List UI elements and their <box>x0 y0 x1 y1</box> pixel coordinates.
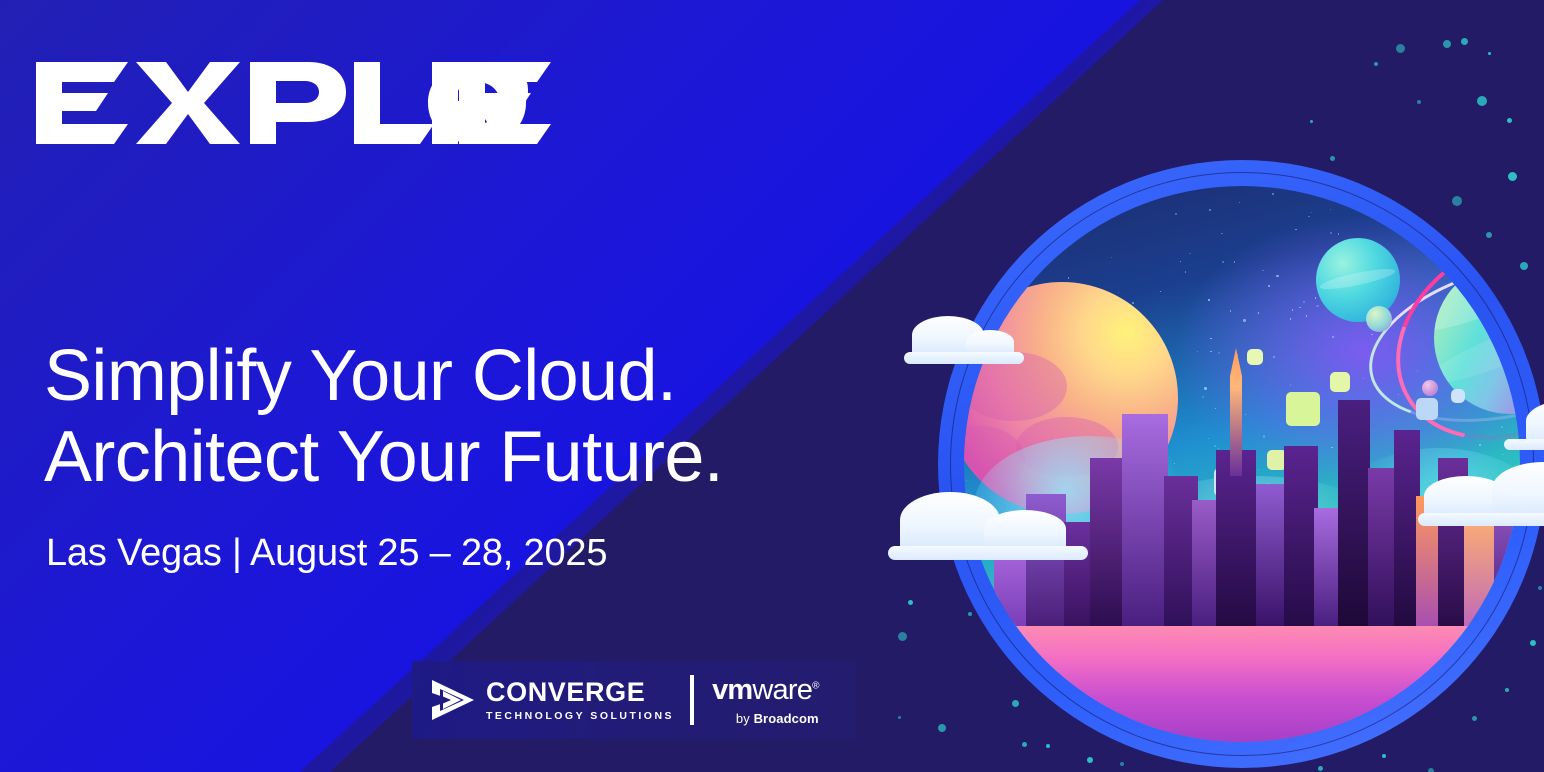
star <box>1111 257 1112 258</box>
star <box>1243 319 1245 321</box>
building <box>1284 446 1318 626</box>
star <box>1315 297 1316 298</box>
teal-dot <box>1120 762 1124 766</box>
registered-mark-icon: ® <box>812 680 819 691</box>
converge-wordmark: CONVERGE TECHNOLOGY SOLUTIONS <box>486 679 674 722</box>
double-chevron-icon <box>430 678 476 722</box>
star <box>1272 193 1273 194</box>
building <box>1464 514 1498 626</box>
teal-dot <box>1382 754 1386 758</box>
star <box>978 232 979 233</box>
teal-dot <box>1461 38 1468 45</box>
star <box>1208 299 1209 300</box>
star <box>1338 233 1339 234</box>
star <box>1295 229 1296 230</box>
star <box>1330 209 1331 210</box>
white-cloud-top-left <box>904 318 1024 364</box>
star <box>1356 190 1357 191</box>
teal-dot <box>1318 766 1323 771</box>
star <box>1299 307 1300 308</box>
teal-dot <box>1452 196 1462 206</box>
star <box>1262 270 1263 271</box>
vmware-ware: ware <box>752 674 812 706</box>
vmware-wordmark: vmware® <box>712 676 819 705</box>
teal-dot <box>938 724 946 732</box>
teal-dot <box>1508 172 1517 181</box>
star <box>1148 194 1149 195</box>
building <box>1338 400 1370 626</box>
star <box>1175 213 1176 214</box>
white-cloud-right <box>1418 460 1544 526</box>
vmware-byline: by Broadcom <box>712 712 819 725</box>
star <box>1180 261 1181 262</box>
teal-dot <box>1443 40 1451 48</box>
star <box>1268 285 1269 286</box>
vmware-logo: vmware® by Broadcom <box>712 676 819 725</box>
star <box>1308 216 1309 217</box>
event-dateline: Las Vegas | August 25 – 28, 2025 <box>46 532 607 575</box>
star <box>1038 190 1039 191</box>
headline-line-1: Simplify Your Cloud. <box>44 336 723 417</box>
star <box>1303 301 1304 302</box>
teal-dot <box>898 632 907 641</box>
star <box>1258 312 1259 313</box>
teal-dot <box>1310 120 1313 123</box>
star <box>1027 284 1028 285</box>
converge-tagline: TECHNOLOGY SOLUTIONS <box>486 711 674 722</box>
byline-by: by <box>736 711 754 726</box>
white-cloud-far-right <box>1504 400 1544 450</box>
teal-dot <box>1396 44 1405 53</box>
converge-logo: CONVERGE TECHNOLOGY SOLUTIONS <box>412 678 674 722</box>
star <box>1132 302 1134 304</box>
vmware-vm: vm <box>712 674 752 706</box>
star <box>1306 315 1307 316</box>
star <box>1209 209 1211 211</box>
star <box>1009 229 1010 230</box>
star <box>1311 212 1312 213</box>
sponsor-logo-lockup: CONVERGE TECHNOLOGY SOLUTIONS vmware® by… <box>412 661 856 739</box>
star <box>1221 233 1222 234</box>
spire-tower <box>1230 348 1242 476</box>
star <box>971 260 972 261</box>
byline-parent: Broadcom <box>754 711 819 726</box>
teal-dot <box>908 600 913 605</box>
star <box>992 292 993 293</box>
teal-dot <box>898 716 901 719</box>
star <box>1185 271 1186 272</box>
star <box>1316 305 1318 307</box>
building-spire-base <box>1216 450 1256 626</box>
star <box>1239 202 1240 203</box>
page-title: Simplify Your Cloud. Architect Your Futu… <box>44 336 723 499</box>
star <box>1290 318 1291 319</box>
star <box>1068 277 1069 278</box>
star <box>1292 309 1293 310</box>
star <box>1058 197 1059 198</box>
star <box>1234 261 1235 262</box>
star <box>1040 253 1041 254</box>
star <box>1189 253 1190 254</box>
explore-logo <box>36 62 551 144</box>
star <box>1222 261 1223 262</box>
teal-dot <box>1087 757 1093 763</box>
teal-dot <box>1046 744 1050 748</box>
teal-dot <box>1520 262 1528 270</box>
space-city-orb-illustration <box>938 160 1544 768</box>
vertical-divider <box>690 675 694 725</box>
teal-dot <box>1022 742 1027 747</box>
explore-event-banner: Simplify Your Cloud. Architect Your Futu… <box>0 0 1544 772</box>
star <box>1330 232 1331 233</box>
teal-dot <box>1417 100 1421 104</box>
teal-dot <box>1488 52 1491 55</box>
white-cloud-mid-left <box>888 490 1088 560</box>
converge-name: CONVERGE <box>486 679 674 706</box>
star <box>1492 187 1493 188</box>
explore-wordmark-icon <box>36 62 551 144</box>
star <box>1276 275 1278 277</box>
star <box>993 297 994 298</box>
building <box>1122 414 1168 626</box>
teal-dot <box>1330 156 1335 161</box>
star <box>1000 293 1001 294</box>
headline-line-2: Architect Your Future. <box>44 417 723 498</box>
star <box>1160 291 1161 292</box>
star <box>1118 292 1119 293</box>
teal-dot <box>1507 118 1512 123</box>
teal-dot <box>1477 96 1487 106</box>
star <box>1230 310 1231 311</box>
teal-dot <box>1530 640 1536 646</box>
teal-dot <box>1374 62 1378 66</box>
teal-dot <box>1428 768 1434 772</box>
building <box>1090 458 1126 626</box>
teal-dot <box>1538 586 1542 590</box>
